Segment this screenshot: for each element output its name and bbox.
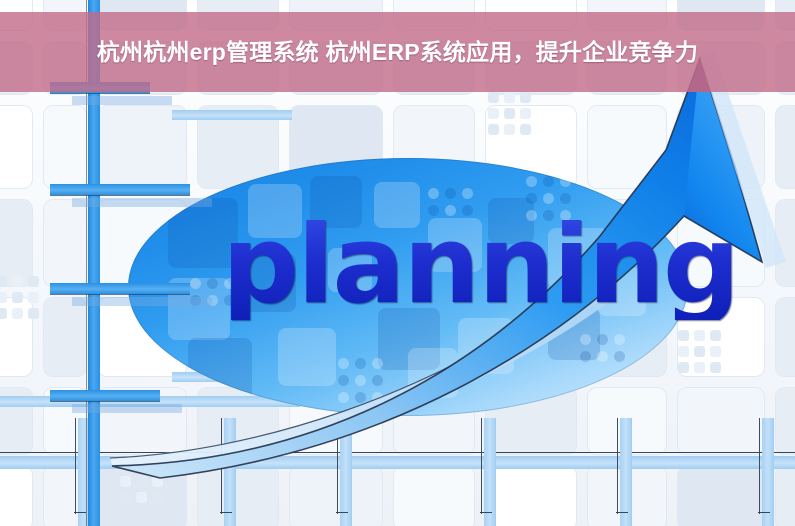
accent-bar-shadow	[72, 96, 172, 105]
accent-bar-horizontal-outline	[50, 195, 190, 196]
accent-bar-horizontal-outline	[50, 93, 150, 94]
accent-bar-shadow	[72, 297, 212, 306]
accent-bar-horizontal	[50, 184, 190, 195]
accent-bar-horizontal	[50, 283, 190, 294]
accent-bar-horizontal-outline	[50, 401, 160, 402]
accent-bar-shadow	[72, 404, 182, 413]
planning-headline: planning	[222, 212, 738, 320]
page-title: 杭州杭州erp管理系统 杭州ERP系统应用，提升企业竞争力	[0, 12, 795, 92]
promo-image-canvas: planning 杭州杭州erp管理系统 杭州ERP系统应用，提升企业竞争力	[0, 0, 795, 526]
accent-bar-shadow	[72, 198, 212, 207]
accent-bar-horizontal-outline	[50, 294, 190, 295]
accent-bar-horizontal	[50, 390, 160, 401]
